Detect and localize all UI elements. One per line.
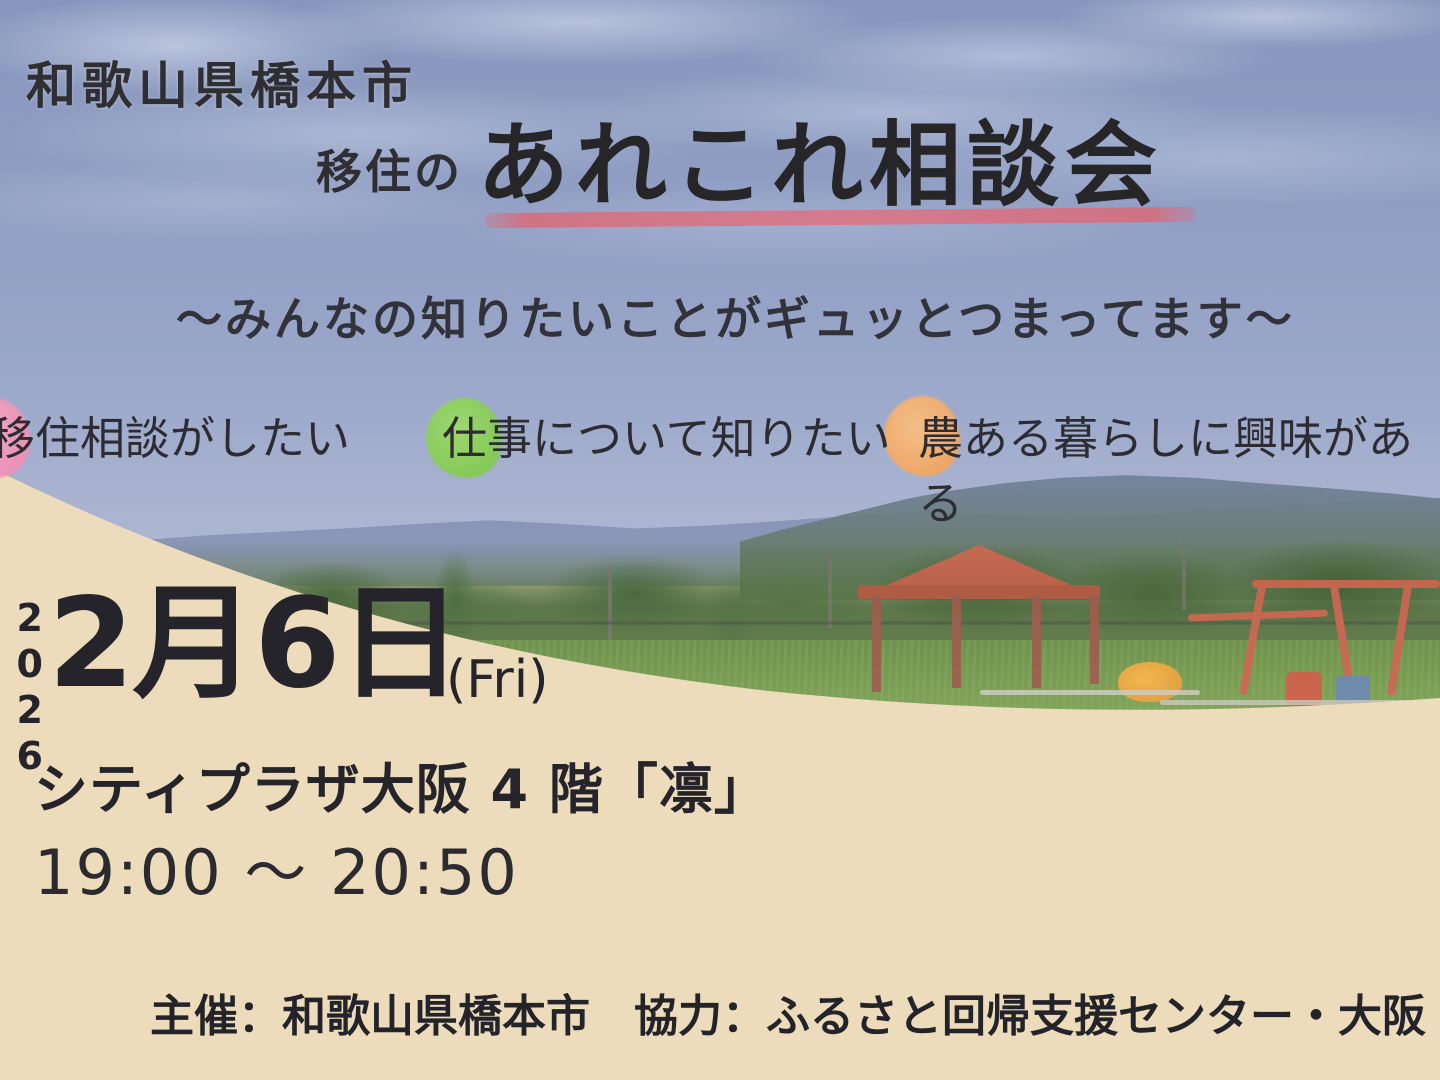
topic-item-work: 仕事について知りたい <box>428 402 891 467</box>
subtitle: 〜みんなの知りたいことがギュッとつまってます〜 <box>176 283 1295 349</box>
title-prefix: 移住の <box>316 136 463 212</box>
poster-canvas: 和歌山県橋本市 移住の あれこれ相談会 〜みんなの知りたいことがギュッとつまって… <box>0 0 1440 1080</box>
text-layer: 和歌山県橋本市 移住の あれこれ相談会 〜みんなの知りたいことがギュッとつまって… <box>0 0 1440 1080</box>
organizer-footer: 主催：和歌山県橋本市 協力：ふるさと回帰支援センター・大阪 <box>150 980 1426 1044</box>
event-date: 2月6日 <box>48 582 461 706</box>
event-day-of-week: (Fri) <box>446 650 549 710</box>
topic-label: 農ある暮らしに興味がある <box>918 402 1440 532</box>
main-title-row: 移住の あれこれ相談会 <box>316 120 1163 212</box>
event-time: 19:00 〜 20:50 <box>34 822 519 912</box>
topic-item-farming: 農ある暮らしに興味がある <box>884 402 1440 532</box>
page-title: あれこれ相談会 <box>477 120 1163 212</box>
city-kicker: 和歌山県橋本市 <box>26 46 418 118</box>
topic-label: 仕事について知りたい <box>442 402 891 467</box>
topic-bullet-list: 移住相談がしたい 仕事について知りたい 農ある暮らしに興味がある <box>0 402 1440 492</box>
event-venue: シティプラザ大阪 4 階「凛」 <box>34 745 769 824</box>
topic-item-relocation: 移住相談がしたい <box>0 402 350 467</box>
topic-label: 移住相談がしたい <box>0 402 350 467</box>
